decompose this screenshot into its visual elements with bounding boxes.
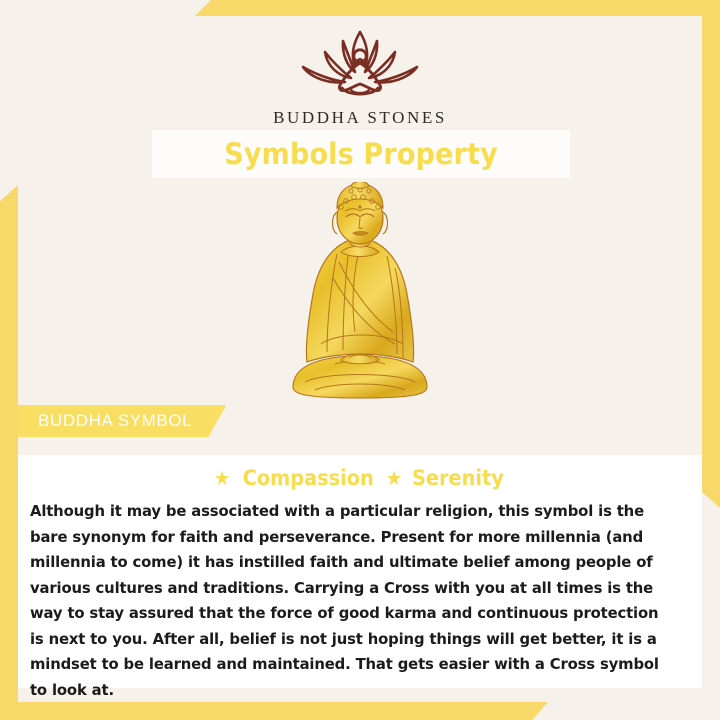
star-icon-1: ★ <box>213 466 231 490</box>
attributes-heading: ★ Compassion ★ Serenity <box>18 466 702 490</box>
seated-buddha-statue-icon <box>275 182 445 407</box>
page-title-band: Symbols Property <box>152 130 570 178</box>
description-panel: ★ Compassion ★ Serenity Although it may … <box>18 455 702 688</box>
decoration-top-bar <box>195 0 720 16</box>
brand-name: BUDDHA STONES <box>0 108 720 128</box>
page-title: Symbols Property <box>224 137 498 171</box>
decoration-bottom-bar <box>0 702 548 720</box>
attribute-compassion: Compassion <box>242 466 373 490</box>
lotus-meditation-icon <box>285 26 435 102</box>
symbol-category-ribbon: BUDDHA SYMBOL <box>18 405 226 437</box>
attribute-serenity: Serenity <box>412 466 504 490</box>
star-icon-2: ★ <box>384 466 402 490</box>
brand-logo: BUDDHA STONES <box>0 26 720 128</box>
description-text: Although it may be associated with a par… <box>30 499 674 703</box>
poster-canvas: BUDDHA STONES Symbols Property <box>0 0 720 720</box>
symbol-category-label: BUDDHA SYMBOL <box>38 411 192 431</box>
hero-image <box>0 182 720 412</box>
